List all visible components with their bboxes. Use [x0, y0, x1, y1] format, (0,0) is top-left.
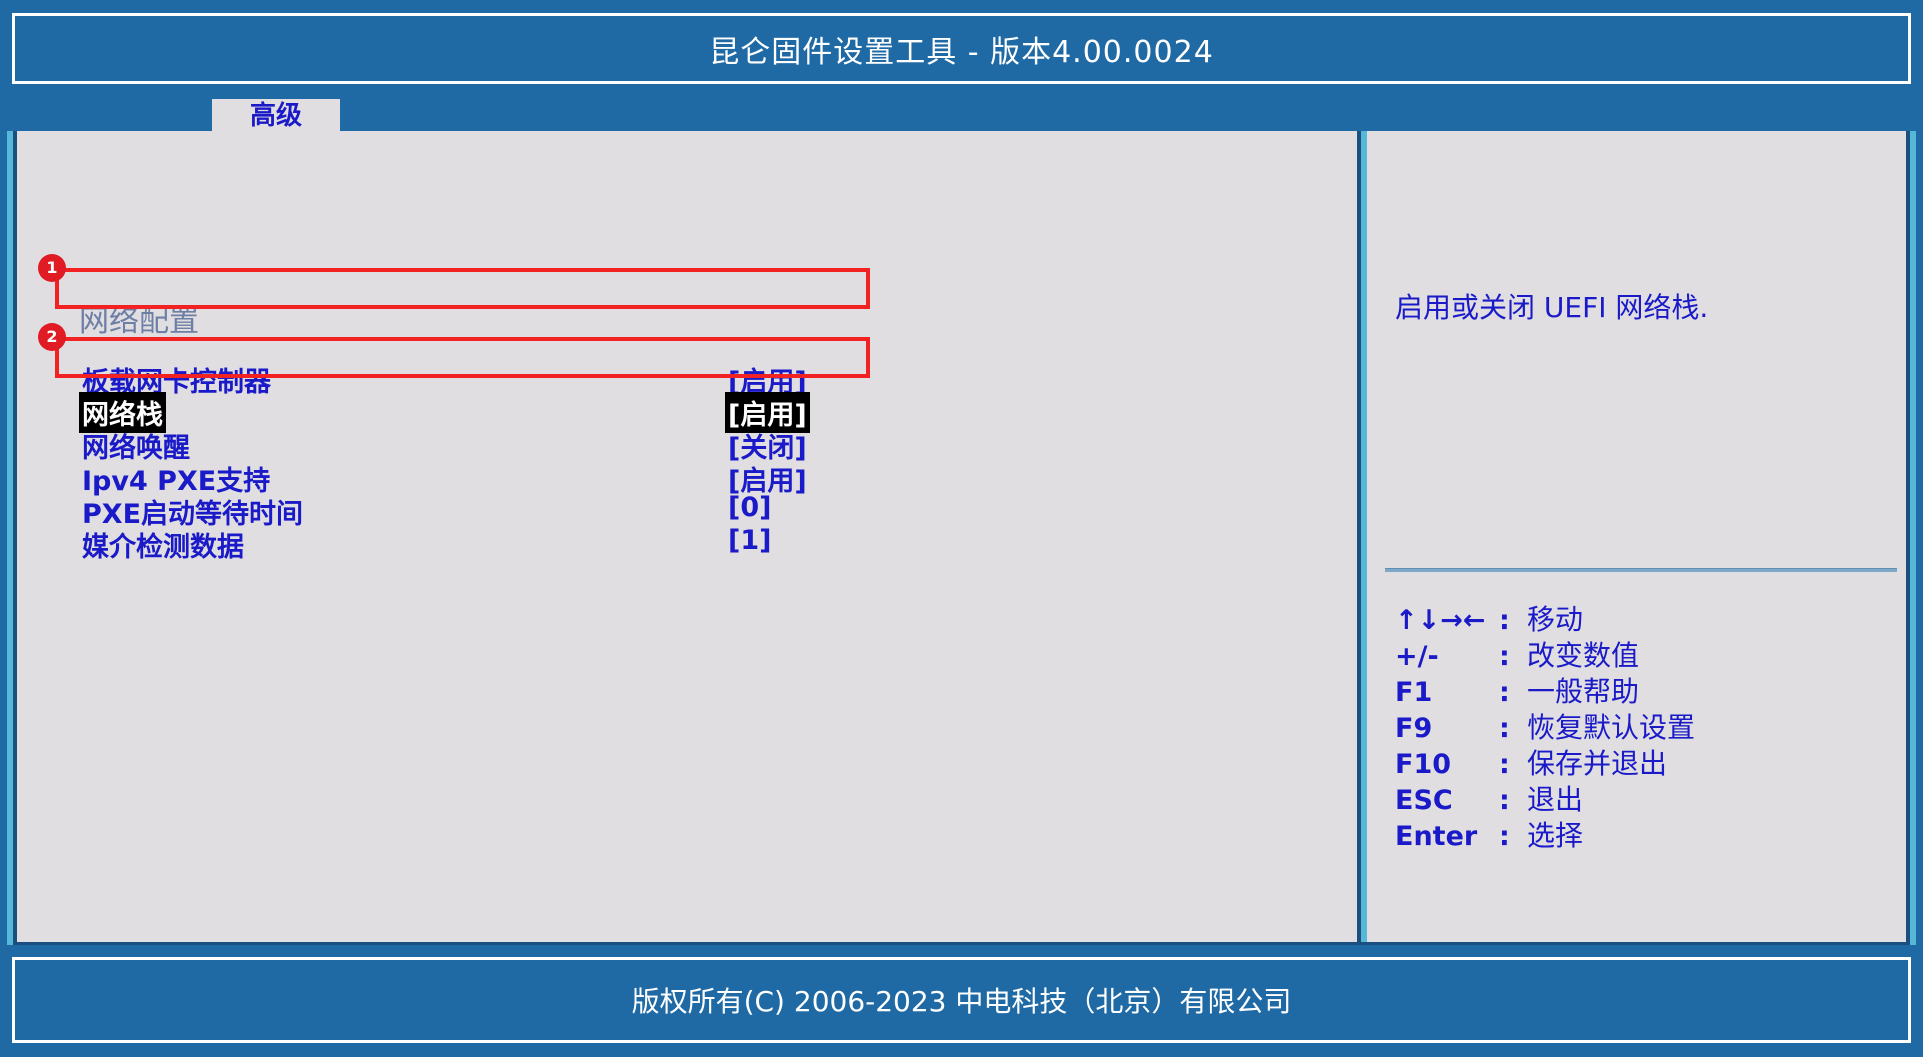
- settings-list: 板载网卡控制器[启用]网络栈[启用]网络唤醒[关闭]Ipv4 PXE支持[启用]…: [17, 359, 1357, 557]
- legend-row: +/-:改变数值: [1395, 634, 1695, 670]
- legend-separator: :: [1499, 713, 1527, 744]
- legend-row: Enter:选择: [1395, 814, 1695, 850]
- tab-advanced[interactable]: 高级: [212, 99, 340, 135]
- legend-separator: :: [1499, 677, 1527, 708]
- help-pane: 启用或关闭 UEFI 网络栈. ↑↓→←:移动+/-:改变数值F1:一般帮助F9…: [1367, 131, 1906, 942]
- legend-description: 选择: [1527, 814, 1583, 854]
- setting-row[interactable]: PXE启动等待时间[0]: [17, 491, 1357, 524]
- key-legend: ↑↓→←:移动+/-:改变数值F1:一般帮助F9:恢复默认设置F10:保存并退出…: [1395, 598, 1695, 850]
- annotation-badge-2: 2: [38, 323, 66, 351]
- legend-description: 恢复默认设置: [1527, 706, 1695, 746]
- body-frame: 网络配置 板载网卡控制器[启用]网络栈[启用]网络唤醒[关闭]Ipv4 PXE支…: [0, 131, 1923, 945]
- legend-key: +/-: [1395, 641, 1499, 672]
- legend-key: ESC: [1395, 785, 1499, 816]
- annotation-badge-1: 1: [38, 254, 66, 282]
- setting-row[interactable]: 媒介检测数据[1]: [17, 524, 1357, 557]
- right-accent-bar: [1910, 131, 1916, 945]
- title-bar: 昆仑固件设置工具 - 版本4.00.0024: [0, 0, 1923, 95]
- setting-row[interactable]: 网络栈[启用]: [17, 392, 1357, 425]
- content-area: 网络配置 板载网卡控制器[启用]网络栈[启用]网络唤醒[关闭]Ipv4 PXE支…: [13, 131, 1910, 945]
- legend-description: 保存并退出: [1527, 742, 1667, 782]
- footer-bar: 版权所有(C) 2006-2023 中电科技（北京）有限公司: [0, 945, 1923, 1057]
- setting-row[interactable]: Ipv4 PXE支持[启用]: [17, 458, 1357, 491]
- setting-value[interactable]: [1]: [725, 524, 774, 557]
- legend-separator: :: [1499, 641, 1527, 672]
- legend-row: F10:保存并退出: [1395, 742, 1695, 778]
- help-separator: [1385, 568, 1897, 572]
- setting-label: 媒介检测数据: [79, 524, 247, 565]
- legend-key: F10: [1395, 749, 1499, 780]
- window-title: 昆仑固件设置工具 - 版本4.00.0024: [15, 27, 1908, 71]
- setting-value[interactable]: [0]: [725, 491, 774, 524]
- setting-row[interactable]: 板载网卡控制器[启用]: [17, 359, 1357, 392]
- footer-frame: 版权所有(C) 2006-2023 中电科技（北京）有限公司: [12, 957, 1911, 1043]
- legend-key: Enter: [1395, 821, 1499, 852]
- legend-description: 退出: [1527, 778, 1583, 818]
- legend-description: 一般帮助: [1527, 670, 1639, 710]
- legend-key: F1: [1395, 677, 1499, 708]
- section-title-network-config: 网络配置: [79, 296, 199, 340]
- legend-description: 移动: [1527, 598, 1583, 638]
- legend-row: ESC:退出: [1395, 778, 1695, 814]
- legend-row: ↑↓→←:移动: [1395, 598, 1695, 634]
- legend-separator: :: [1499, 749, 1527, 780]
- bios-setup-screen: 昆仑固件设置工具 - 版本4.00.0024 高级 网络配置 板载网卡控制器[启…: [0, 0, 1923, 1057]
- legend-row: F9:恢复默认设置: [1395, 706, 1695, 742]
- tab-strip: 高级: [0, 95, 1923, 131]
- setting-row[interactable]: 网络唤醒[关闭]: [17, 425, 1357, 458]
- legend-separator: :: [1499, 785, 1527, 816]
- legend-key: ↑↓→←: [1395, 605, 1499, 636]
- legend-row: F1:一般帮助: [1395, 670, 1695, 706]
- title-bar-frame: 昆仑固件设置工具 - 版本4.00.0024: [12, 13, 1911, 84]
- legend-separator: :: [1499, 821, 1527, 852]
- settings-pane: 网络配置 板载网卡控制器[启用]网络栈[启用]网络唤醒[关闭]Ipv4 PXE支…: [17, 131, 1357, 942]
- legend-key: F9: [1395, 713, 1499, 744]
- copyright-text: 版权所有(C) 2006-2023 中电科技（北京）有限公司: [15, 980, 1908, 1020]
- help-description: 启用或关闭 UEFI 网络栈.: [1395, 289, 1886, 327]
- legend-description: 改变数值: [1527, 634, 1639, 674]
- legend-separator: :: [1499, 605, 1527, 636]
